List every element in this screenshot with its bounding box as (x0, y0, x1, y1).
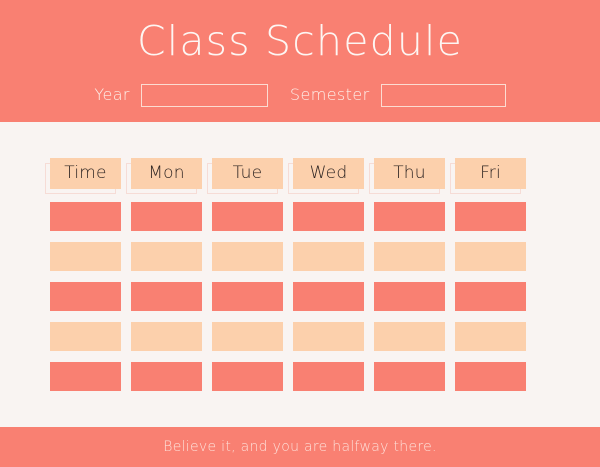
header-fields: Year Semester (0, 82, 600, 108)
schedule-cell[interactable] (455, 202, 526, 231)
footer-quote: Believe it, and you are halfway there. (163, 439, 437, 455)
schedule-cell[interactable] (50, 362, 121, 391)
column-header-fri[interactable]: Fri (455, 158, 526, 189)
header-band: Class Schedule Year Semester (0, 0, 600, 122)
schedule-cell[interactable] (293, 282, 364, 311)
schedule-cell[interactable] (374, 362, 445, 391)
column-header-label: Tue (233, 158, 263, 189)
column-header-label: Fri (480, 158, 501, 189)
schedule-cell[interactable] (212, 362, 283, 391)
schedule-cell[interactable] (293, 322, 364, 351)
schedule-cell[interactable] (50, 242, 121, 271)
schedule-cell[interactable] (131, 242, 202, 271)
schedule-cell[interactable] (131, 282, 202, 311)
header-face: Time (50, 158, 121, 189)
schedule-header-row: Time Mon Tue Wed (50, 158, 557, 189)
schedule-cell[interactable] (293, 242, 364, 271)
column-header-thu[interactable]: Thu (374, 158, 445, 189)
schedule-cell[interactable] (455, 242, 526, 271)
column-header-label: Thu (393, 158, 426, 189)
schedule-cell[interactable] (374, 322, 445, 351)
schedule-grid: Time Mon Tue Wed (50, 158, 557, 402)
table-row (50, 282, 557, 311)
schedule-cell[interactable] (131, 362, 202, 391)
schedule-cell[interactable] (212, 322, 283, 351)
schedule-cell[interactable] (293, 202, 364, 231)
schedule-cell[interactable] (212, 242, 283, 271)
table-row (50, 322, 557, 351)
schedule-cell[interactable] (50, 202, 121, 231)
schedule-cell[interactable] (455, 282, 526, 311)
schedule-cell[interactable] (131, 202, 202, 231)
header-face: Mon (131, 158, 202, 189)
table-row (50, 242, 557, 271)
semester-input[interactable] (381, 84, 506, 107)
schedule-cell[interactable] (212, 202, 283, 231)
schedule-cell[interactable] (212, 282, 283, 311)
semester-label: Semester (290, 82, 370, 108)
column-header-wed[interactable]: Wed (293, 158, 364, 189)
header-face: Thu (374, 158, 445, 189)
schedule-cell[interactable] (374, 282, 445, 311)
schedule-cell[interactable] (455, 322, 526, 351)
table-row (50, 202, 557, 231)
schedule-cell[interactable] (455, 362, 526, 391)
footer-band: Believe it, and you are halfway there. (0, 427, 600, 467)
schedule-cell[interactable] (50, 282, 121, 311)
column-header-label: Mon (148, 158, 184, 189)
class-schedule-poster: Class Schedule Year Semester Time Mon (0, 0, 600, 467)
schedule-cell[interactable] (293, 362, 364, 391)
schedule-cell[interactable] (131, 322, 202, 351)
schedule-cell[interactable] (374, 202, 445, 231)
header-face: Fri (455, 158, 526, 189)
year-input[interactable] (141, 84, 268, 107)
year-label: Year (94, 82, 129, 108)
schedule-cell[interactable] (374, 242, 445, 271)
column-header-label: Time (64, 158, 106, 189)
column-header-mon[interactable]: Mon (131, 158, 202, 189)
header-face: Tue (212, 158, 283, 189)
schedule-cell[interactable] (50, 322, 121, 351)
column-header-label: Wed (310, 158, 348, 189)
page-title: Class Schedule (0, 16, 600, 66)
column-header-time[interactable]: Time (50, 158, 121, 189)
header-face: Wed (293, 158, 364, 189)
column-header-tue[interactable]: Tue (212, 158, 283, 189)
table-row (50, 362, 557, 391)
